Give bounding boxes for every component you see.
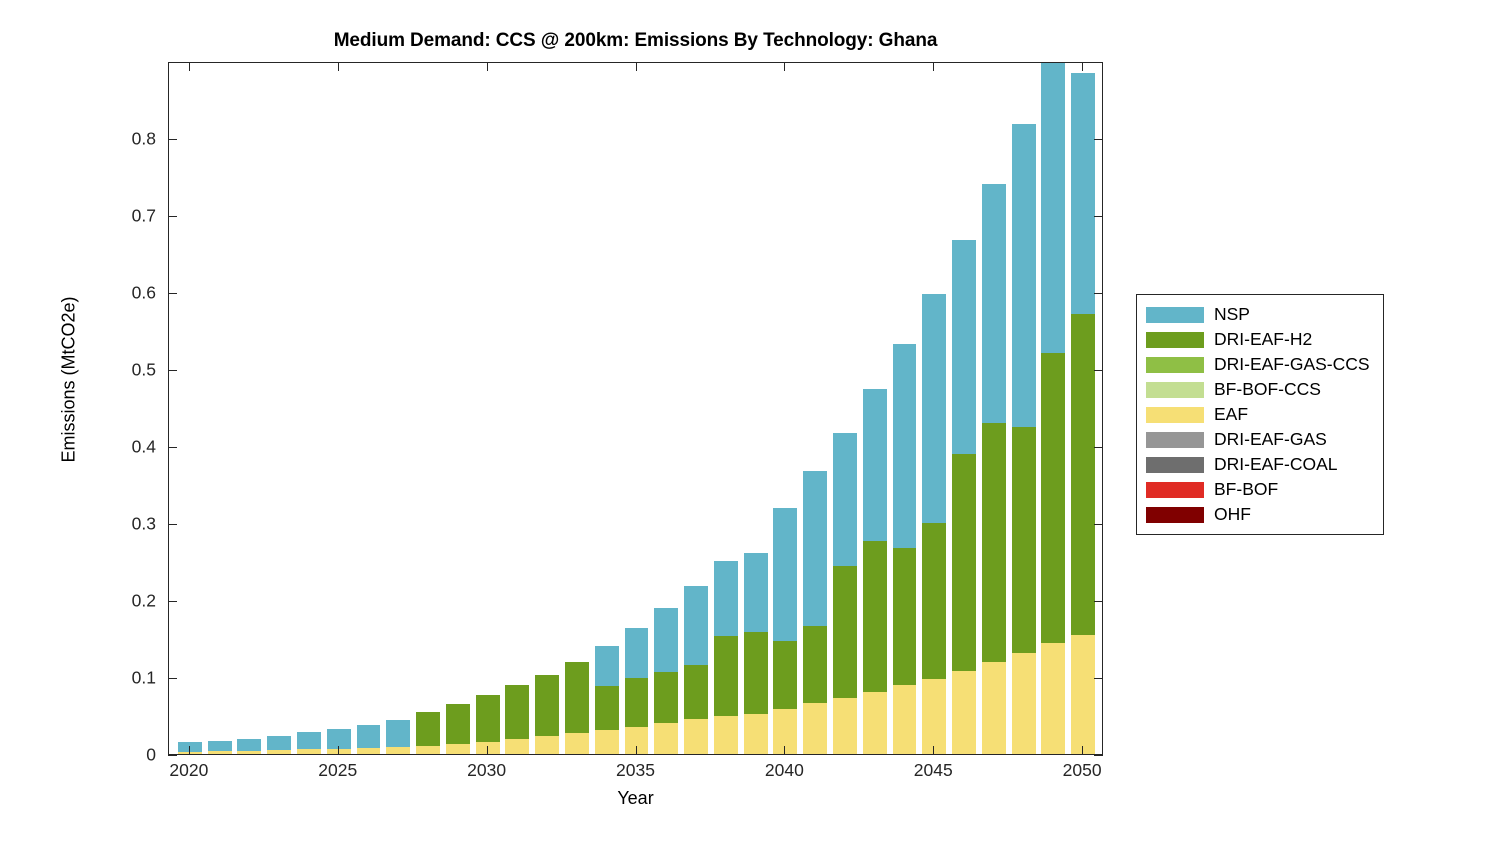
bar-group bbox=[297, 63, 321, 754]
x-axis-tick bbox=[338, 62, 339, 71]
y-axis-tick bbox=[1094, 524, 1103, 525]
bar-segment-eaf bbox=[714, 716, 738, 754]
bar-segment-eaf bbox=[744, 714, 768, 754]
x-axis-tick bbox=[636, 746, 637, 755]
bars-layer bbox=[169, 63, 1102, 754]
bar-segment-eaf bbox=[476, 742, 500, 754]
bar-segment-eaf bbox=[208, 751, 232, 754]
bar-segment-eaf bbox=[416, 746, 440, 754]
x-axis-tick bbox=[487, 62, 488, 71]
bar-group bbox=[893, 63, 917, 754]
bar-segment-eaf bbox=[267, 750, 291, 754]
legend-item[interactable]: DRI-EAF-GAS bbox=[1137, 427, 1383, 452]
legend-item[interactable]: EAF bbox=[1137, 402, 1383, 427]
bar-segment-eaf bbox=[803, 703, 827, 754]
x-axis-tick bbox=[933, 746, 934, 755]
y-axis-tick-label: 0.2 bbox=[98, 591, 156, 612]
y-axis-tick bbox=[168, 447, 177, 448]
x-axis-tick bbox=[189, 746, 190, 755]
bar-segment-dri-eaf-h2 bbox=[863, 541, 887, 691]
figure-canvas: Medium Demand: CCS @ 200km: Emissions By… bbox=[0, 0, 1500, 844]
bar-segment-eaf bbox=[386, 747, 410, 754]
x-axis-tick bbox=[1082, 62, 1083, 71]
x-axis-tick bbox=[933, 62, 934, 71]
bar-segment-eaf bbox=[982, 662, 1006, 754]
bar-segment-dri-eaf-h2 bbox=[803, 626, 827, 703]
bar-segment-eaf bbox=[863, 692, 887, 754]
bar-segment-eaf bbox=[565, 733, 589, 754]
bar-segment-eaf bbox=[773, 709, 797, 754]
bar-segment-dri-eaf-h2 bbox=[505, 685, 529, 739]
legend-item[interactable]: DRI-EAF-GAS-CCS bbox=[1137, 352, 1383, 377]
bar-segment-dri-eaf-h2 bbox=[595, 686, 619, 730]
x-axis-tick-label: 2020 bbox=[144, 760, 234, 781]
bar-segment-dri-eaf-h2 bbox=[565, 662, 589, 734]
bar-segment-nsp bbox=[1071, 73, 1095, 314]
y-axis-tick-label: 0.5 bbox=[98, 360, 156, 381]
bar-segment-eaf bbox=[237, 751, 261, 754]
legend-item[interactable]: DRI-EAF-H2 bbox=[1137, 327, 1383, 352]
bar-segment-nsp bbox=[327, 729, 351, 749]
y-axis-tick bbox=[168, 370, 177, 371]
bar-segment-dri-eaf-h2 bbox=[654, 672, 678, 724]
bar-segment-dri-eaf-h2 bbox=[1012, 427, 1036, 653]
bar-group bbox=[476, 63, 500, 754]
legend: NSPDRI-EAF-H2DRI-EAF-GAS-CCSBF-BOF-CCSEA… bbox=[1136, 294, 1384, 535]
bar-group bbox=[386, 63, 410, 754]
y-axis-tick bbox=[1094, 678, 1103, 679]
bar-group bbox=[922, 63, 946, 754]
y-axis-title: Emissions (MtCO2e) bbox=[59, 180, 80, 580]
x-axis-tick bbox=[784, 62, 785, 71]
bar-group bbox=[684, 63, 708, 754]
bar-group bbox=[982, 63, 1006, 754]
bar-group bbox=[744, 63, 768, 754]
legend-swatch-icon bbox=[1146, 307, 1204, 323]
y-axis-tick bbox=[1094, 293, 1103, 294]
bar-segment-eaf bbox=[595, 730, 619, 754]
y-axis-tick bbox=[1094, 755, 1103, 756]
bar-group bbox=[357, 63, 381, 754]
x-axis-tick-label: 2040 bbox=[739, 760, 829, 781]
legend-item[interactable]: NSP bbox=[1137, 302, 1383, 327]
y-axis-tick bbox=[168, 601, 177, 602]
x-axis-tick bbox=[487, 746, 488, 755]
y-axis-tick bbox=[1094, 216, 1103, 217]
bar-group bbox=[535, 63, 559, 754]
bar-group bbox=[565, 63, 589, 754]
bar-segment-nsp bbox=[654, 608, 678, 671]
bar-group bbox=[208, 63, 232, 754]
bar-group bbox=[863, 63, 887, 754]
bar-segment-nsp bbox=[744, 553, 768, 632]
bar-segment-eaf bbox=[654, 723, 678, 754]
chart-title: Medium Demand: CCS @ 200km: Emissions By… bbox=[168, 30, 1103, 52]
y-axis-tick bbox=[168, 139, 177, 140]
legend-item[interactable]: BF-BOF-CCS bbox=[1137, 377, 1383, 402]
legend-label: DRI-EAF-GAS bbox=[1214, 429, 1327, 450]
y-axis-tick bbox=[1094, 370, 1103, 371]
bar-segment-eaf bbox=[327, 749, 351, 754]
legend-swatch-icon bbox=[1146, 357, 1204, 373]
bar-group bbox=[1012, 63, 1036, 754]
bar-segment-dri-eaf-h2 bbox=[416, 712, 440, 746]
bar-segment-eaf bbox=[833, 698, 857, 754]
legend-swatch-icon bbox=[1146, 332, 1204, 348]
y-axis-tick bbox=[168, 755, 177, 756]
y-axis-tick-label: 0.8 bbox=[98, 129, 156, 150]
bar-segment-eaf bbox=[893, 685, 917, 754]
bar-segment-dri-eaf-h2 bbox=[744, 632, 768, 714]
y-axis-tick bbox=[168, 216, 177, 217]
bar-segment-nsp bbox=[1012, 124, 1036, 427]
bar-segment-nsp bbox=[952, 240, 976, 454]
y-axis-tick-label: 0.3 bbox=[98, 514, 156, 535]
x-axis-title: Year bbox=[168, 788, 1103, 809]
bar-segment-nsp bbox=[595, 646, 619, 686]
y-axis-tick bbox=[168, 293, 177, 294]
legend-swatch-icon bbox=[1146, 482, 1204, 498]
x-axis-tick-label: 2045 bbox=[888, 760, 978, 781]
bar-segment-dri-eaf-h2 bbox=[446, 704, 470, 744]
bar-segment-dri-eaf-h2 bbox=[893, 548, 917, 685]
legend-item[interactable]: OHF bbox=[1137, 502, 1383, 527]
x-axis-tick-label: 2035 bbox=[591, 760, 681, 781]
x-axis-tick-label: 2050 bbox=[1037, 760, 1127, 781]
bar-group bbox=[952, 63, 976, 754]
bar-segment-nsp bbox=[922, 294, 946, 523]
bar-group bbox=[714, 63, 738, 754]
legend-swatch-icon bbox=[1146, 432, 1204, 448]
bar-group bbox=[1041, 63, 1065, 754]
bar-segment-dri-eaf-h2 bbox=[773, 641, 797, 710]
legend-item[interactable]: BF-BOF bbox=[1137, 477, 1383, 502]
y-axis-tick bbox=[168, 524, 177, 525]
bar-group bbox=[773, 63, 797, 754]
bar-group bbox=[595, 63, 619, 754]
x-axis-tick bbox=[636, 62, 637, 71]
bar-segment-eaf bbox=[535, 736, 559, 754]
bar-segment-nsp bbox=[386, 720, 410, 747]
bar-group bbox=[833, 63, 857, 754]
bar-segment-eaf bbox=[505, 739, 529, 754]
bar-group bbox=[1071, 63, 1095, 754]
bar-segment-nsp bbox=[1041, 63, 1065, 353]
bar-segment-nsp bbox=[208, 741, 232, 751]
bar-group bbox=[446, 63, 470, 754]
bar-segment-nsp bbox=[833, 433, 857, 566]
bar-segment-dri-eaf-h2 bbox=[982, 423, 1006, 662]
bar-group bbox=[803, 63, 827, 754]
bar-segment-nsp bbox=[357, 725, 381, 748]
x-axis-tick bbox=[784, 746, 785, 755]
bar-segment-eaf bbox=[952, 671, 976, 754]
bar-group bbox=[237, 63, 261, 754]
y-axis-tick bbox=[168, 678, 177, 679]
legend-label: DRI-EAF-COAL bbox=[1214, 454, 1337, 475]
legend-label: BF-BOF bbox=[1214, 479, 1278, 500]
bar-group bbox=[327, 63, 351, 754]
legend-label: OHF bbox=[1214, 504, 1251, 525]
bar-group bbox=[416, 63, 440, 754]
y-axis-tick-label: 0.1 bbox=[98, 668, 156, 689]
legend-label: BF-BOF-CCS bbox=[1214, 379, 1321, 400]
bar-segment-dri-eaf-h2 bbox=[1071, 314, 1095, 635]
bar-segment-nsp bbox=[267, 736, 291, 751]
legend-swatch-icon bbox=[1146, 457, 1204, 473]
bar-group bbox=[625, 63, 649, 754]
y-axis-tick-label: 0.4 bbox=[98, 437, 156, 458]
x-axis-tick bbox=[338, 746, 339, 755]
x-axis-tick-label: 2025 bbox=[293, 760, 383, 781]
bar-group bbox=[178, 63, 202, 754]
bar-group bbox=[267, 63, 291, 754]
legend-label: EAF bbox=[1214, 404, 1248, 425]
bar-segment-eaf bbox=[1041, 643, 1065, 754]
legend-item[interactable]: DRI-EAF-COAL bbox=[1137, 452, 1383, 477]
bar-segment-nsp bbox=[803, 471, 827, 626]
bar-segment-eaf bbox=[1071, 635, 1095, 754]
bar-group bbox=[505, 63, 529, 754]
x-axis-tick bbox=[1082, 746, 1083, 755]
bar-segment-nsp bbox=[773, 508, 797, 641]
bar-segment-nsp bbox=[982, 184, 1006, 423]
bar-segment-nsp bbox=[863, 389, 887, 541]
bar-segment-eaf bbox=[357, 748, 381, 754]
bar-segment-eaf bbox=[922, 679, 946, 754]
bar-segment-dri-eaf-h2 bbox=[535, 675, 559, 737]
bar-segment-dri-eaf-h2 bbox=[625, 678, 649, 727]
bar-segment-dri-eaf-h2 bbox=[714, 636, 738, 716]
legend-label: NSP bbox=[1214, 304, 1250, 325]
bar-segment-dri-eaf-h2 bbox=[476, 695, 500, 741]
bar-segment-nsp bbox=[625, 628, 649, 677]
bar-segment-dri-eaf-h2 bbox=[833, 566, 857, 698]
bar-segment-nsp bbox=[297, 732, 321, 749]
legend-swatch-icon bbox=[1146, 407, 1204, 423]
legend-label: DRI-EAF-GAS-CCS bbox=[1214, 354, 1370, 375]
bar-segment-dri-eaf-h2 bbox=[684, 665, 708, 718]
bar-segment-eaf bbox=[446, 744, 470, 754]
bar-segment-nsp bbox=[237, 739, 261, 751]
x-axis-tick-label: 2030 bbox=[442, 760, 532, 781]
y-axis-tick bbox=[1094, 139, 1103, 140]
y-axis-tick bbox=[1094, 601, 1103, 602]
bar-group bbox=[654, 63, 678, 754]
legend-swatch-icon bbox=[1146, 382, 1204, 398]
bar-segment-nsp bbox=[714, 561, 738, 636]
bar-segment-nsp bbox=[684, 586, 708, 665]
bar-segment-eaf bbox=[1012, 653, 1036, 754]
y-axis-tick bbox=[1094, 447, 1103, 448]
bar-segment-eaf bbox=[297, 749, 321, 754]
y-axis-tick-label: 0.7 bbox=[98, 206, 156, 227]
x-axis-tick bbox=[189, 62, 190, 71]
legend-swatch-icon bbox=[1146, 507, 1204, 523]
bar-segment-dri-eaf-h2 bbox=[1041, 353, 1065, 643]
legend-label: DRI-EAF-H2 bbox=[1214, 329, 1312, 350]
bar-segment-eaf bbox=[684, 719, 708, 754]
bar-segment-nsp bbox=[893, 344, 917, 549]
bar-segment-dri-eaf-h2 bbox=[952, 454, 976, 670]
plot-area bbox=[168, 62, 1103, 755]
bar-segment-dri-eaf-h2 bbox=[922, 523, 946, 679]
y-axis-tick-label: 0.6 bbox=[98, 283, 156, 304]
